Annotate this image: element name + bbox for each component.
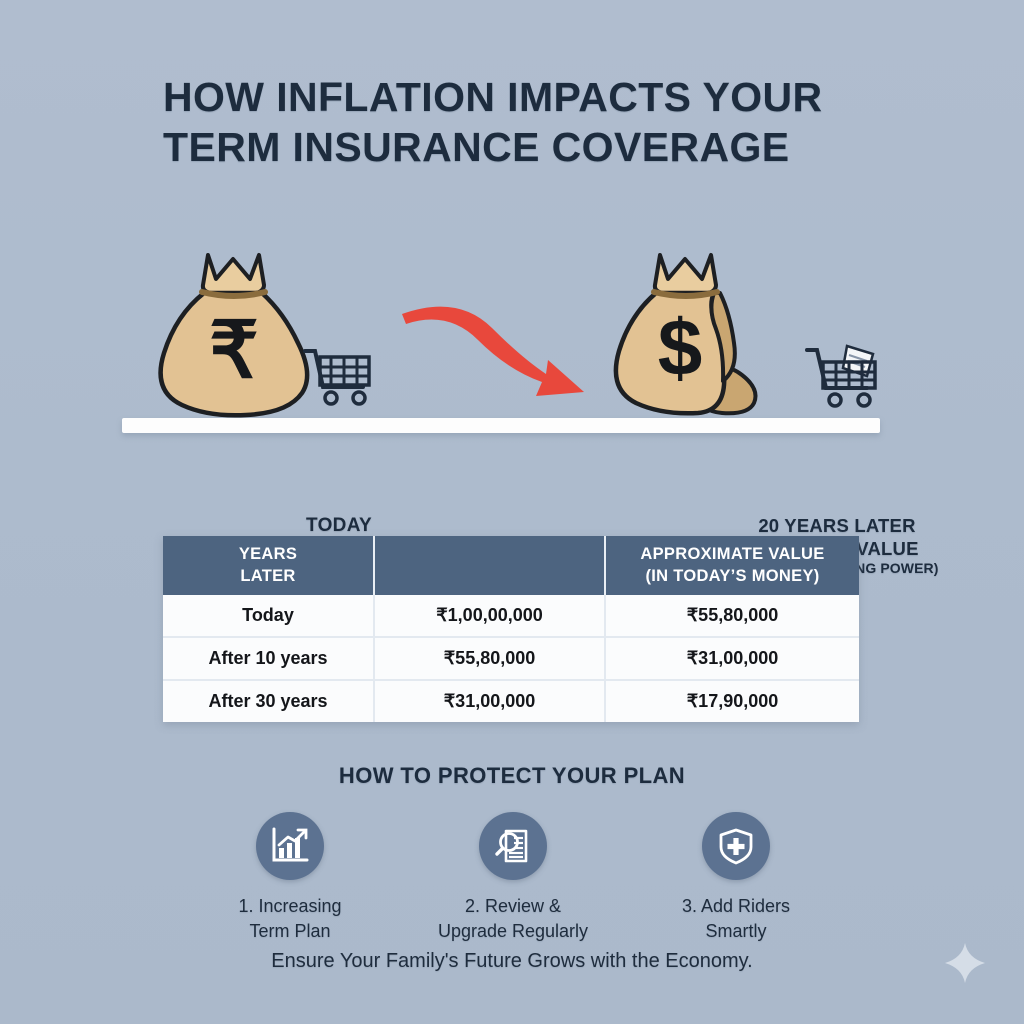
protect-section-heading: HOW TO PROTECT YOUR PLAN [0, 763, 1024, 789]
cell-nominal: ₹55,80,000 [374, 637, 605, 680]
table-header-approx-line-2: (IN TODAY’S MONEY) [645, 567, 819, 585]
cell-period: After 30 years [163, 680, 374, 722]
document-magnifier-icon [479, 812, 547, 880]
future-label-line-1: 20 YEARS LATER [722, 514, 952, 537]
protect-steps: 1. Increasing Term Plan 2. Review & [190, 812, 836, 944]
table-row: Today ₹1,00,00,000 ₹55,80,000 [163, 595, 859, 637]
shopping-cart-with-receipt-icon [805, 342, 883, 410]
step-label: 3. Add Riders Smartly [636, 894, 836, 944]
page-title: HOW INFLATION IMPACTS YOUR TERM INSURANC… [163, 72, 883, 172]
shelf-divider [122, 418, 880, 433]
table-header-approx-value: APPROXIMATE VALUE (IN TODAY’S MONEY) [605, 536, 859, 595]
footer-tagline: Ensure Your Family's Future Grows with t… [0, 950, 1024, 973]
step-label: 1. Increasing Term Plan [190, 894, 390, 944]
value-erosion-table: YEARS LATER APPROXIMATE VALUE (IN TODAY’… [163, 536, 859, 722]
svg-text:₹: ₹ [209, 306, 259, 394]
svg-text:$: $ [658, 303, 703, 392]
cell-real: ₹55,80,000 [605, 595, 859, 637]
table-row: After 10 years ₹55,80,000 ₹31,00,000 [163, 637, 859, 680]
step-label: 2. Review & Upgrade Regularly [413, 894, 613, 944]
curved-down-arrow-icon [396, 298, 596, 403]
inflation-illustration: ₹ TODAY ₹1 CRORE VALUE [0, 230, 1024, 445]
shopping-cart-icon [303, 345, 375, 407]
table-header-years-line-2: LATER [240, 567, 295, 585]
step-label-line-2: Upgrade Regularly [438, 921, 588, 941]
today-label-line-1: TODAY [284, 514, 394, 538]
step-label-line-1: 1. Increasing [238, 896, 341, 916]
step-label-line-1: 3. Add Riders [682, 896, 790, 916]
bar-chart-growth-icon [256, 812, 324, 880]
step-label-line-2: Smartly [705, 921, 766, 941]
table-header-row: YEARS LATER APPROXIMATE VALUE (IN TODAY’… [163, 536, 859, 595]
cell-period: After 10 years [163, 637, 374, 680]
title-line-1: HOW INFLATION IMPACTS YOUR [163, 72, 883, 122]
step-review-upgrade: 2. Review & Upgrade Regularly [413, 812, 613, 944]
table-header-approx-line-1: APPROXIMATE VALUE [640, 545, 824, 563]
money-bag-icon: ₹ [146, 245, 321, 420]
table-header-years: YEARS LATER [163, 536, 374, 595]
cell-nominal: ₹31,00,000 [374, 680, 605, 722]
shield-plus-icon [702, 812, 770, 880]
step-label-line-1: 2. Review & [465, 896, 561, 916]
money-bag-icon: $ [604, 245, 804, 420]
table-header-years-line-1: YEARS [239, 545, 297, 563]
cell-real: ₹17,90,000 [605, 680, 859, 722]
title-line-2: TERM INSURANCE COVERAGE [163, 122, 883, 172]
cell-real: ₹31,00,000 [605, 637, 859, 680]
cell-nominal: ₹1,00,00,000 [374, 595, 605, 637]
step-add-riders: 3. Add Riders Smartly [636, 812, 836, 944]
table-row: After 30 years ₹31,00,000 ₹17,90,000 [163, 680, 859, 722]
table-header-middle [374, 536, 605, 595]
cell-period: Today [163, 595, 374, 637]
step-increasing-term-plan: 1. Increasing Term Plan [190, 812, 390, 944]
four-point-star-icon [943, 941, 987, 990]
infographic-poster: HOW INFLATION IMPACTS YOUR TERM INSURANC… [0, 0, 1024, 1024]
step-label-line-2: Term Plan [249, 921, 330, 941]
